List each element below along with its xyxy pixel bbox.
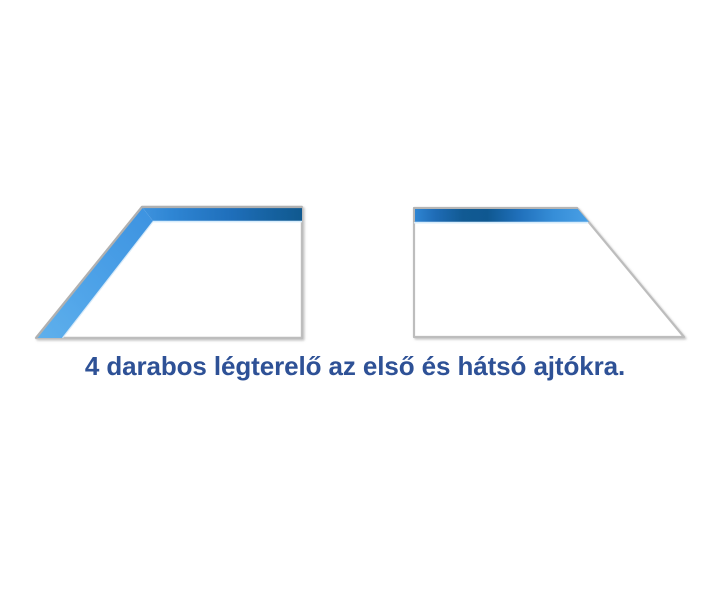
rear-door-deflector-shape [414,208,684,337]
right-deflector-top-strip [414,208,589,222]
caption-container: 4 darabos légterelő az első és hátsó ajt… [0,350,710,382]
product-illustration-figure: 4 darabos légterelő az első és hátsó ajt… [0,0,710,613]
front-door-deflector-shape [36,207,302,338]
right-window-outline [414,208,684,337]
illustration-stage [0,0,710,345]
product-caption: 4 darabos légterelő az első és hátsó ajt… [85,350,625,382]
left-deflector-top-strip [142,207,302,221]
wind-deflector-pair-illustration [0,0,710,345]
